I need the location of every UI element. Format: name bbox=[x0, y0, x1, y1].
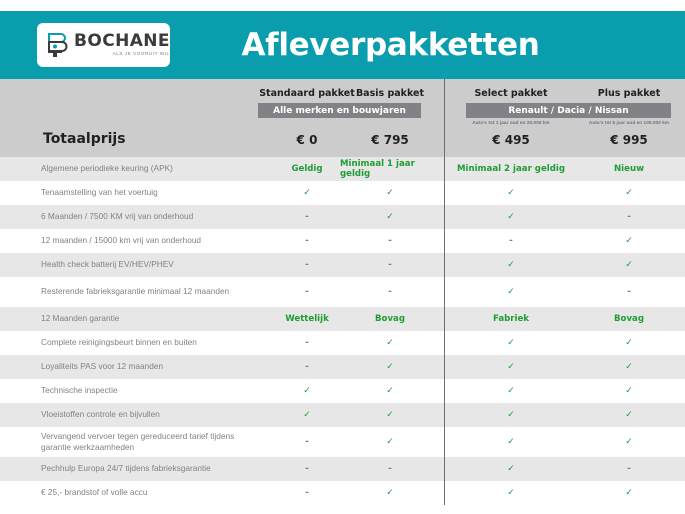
feature-label: Vloeistoffen controle en bijvullen bbox=[41, 403, 251, 427]
cell-basis: ✓ bbox=[340, 331, 440, 355]
cell-basis: Minimaal 1 jaar geldig bbox=[340, 157, 440, 181]
feature-label: € 25,- brandstof of volle accu bbox=[41, 481, 251, 505]
cell-select: ✓ bbox=[446, 403, 576, 427]
table-row: Vloeistoffen controle en bijvullen✓✓✓✓ bbox=[0, 403, 685, 427]
cell-select: ✓ bbox=[446, 457, 576, 481]
cell-plus: ✓ bbox=[564, 181, 685, 205]
cell-select: ✓ bbox=[446, 277, 576, 307]
feature-label: Pechhulp Europa 24/7 tijdens fabrieksgar… bbox=[41, 457, 251, 481]
cell-plus: - bbox=[564, 277, 685, 307]
package-columns: Standaard pakket€ 0Basis pakket€ 795Sele… bbox=[0, 79, 685, 157]
cell-plus: ✓ bbox=[564, 253, 685, 277]
table-row: Technische inspectie✓✓✓✓ bbox=[0, 379, 685, 403]
cell-select: Fabriek bbox=[446, 307, 576, 331]
cell-basis: - bbox=[340, 229, 440, 253]
column-subnote-plus: Auto's tot 5 jaar oud en 100.000 km bbox=[564, 120, 685, 125]
cell-basis: ✓ bbox=[340, 205, 440, 229]
feature-label: Loyaliteits PAS voor 12 maanden bbox=[41, 355, 251, 379]
group-divider-header bbox=[444, 79, 445, 157]
column-subnote-select: Auto's tot 1 jaar oud en 20.000 km bbox=[446, 120, 576, 125]
column-title-basis: Basis pakket bbox=[340, 88, 440, 99]
group-pill-left: Alle merken en bouwjaren bbox=[258, 103, 421, 118]
feature-label: 6 Maanden / 7500 KM vrij van onderhoud bbox=[41, 205, 251, 229]
cell-basis: ✓ bbox=[340, 379, 440, 403]
cell-plus: - bbox=[564, 205, 685, 229]
table-row: Resterende fabrieksgarantie minimaal 12 … bbox=[0, 277, 685, 307]
pricing-header: Totaalprijs Standaard pakket€ 0Basis pak… bbox=[0, 79, 685, 157]
cell-basis: Bovag bbox=[340, 307, 440, 331]
afleverpakketten-page: BOCHANE ALS JE VOORUIT WIL Afleverpakket… bbox=[0, 0, 685, 514]
cell-select: ✓ bbox=[446, 379, 576, 403]
column-title-select: Select pakket bbox=[446, 88, 576, 99]
top-margin bbox=[0, 0, 685, 11]
cell-plus: Bovag bbox=[564, 307, 685, 331]
table-row: Algemene periodieke keuring (APK)GeldigM… bbox=[0, 157, 685, 181]
feature-label: Health check batterij EV/HEV/PHEV bbox=[41, 253, 251, 277]
feature-label: Tenaamstelling van het voertuig bbox=[41, 181, 251, 205]
cell-plus: ✓ bbox=[564, 331, 685, 355]
cell-select: ✓ bbox=[446, 205, 576, 229]
cell-plus: ✓ bbox=[564, 403, 685, 427]
group-pill-right: Renault / Dacia / Nissan bbox=[466, 103, 671, 118]
table-row: € 25,- brandstof of volle accu-✓✓✓ bbox=[0, 481, 685, 505]
feature-comparison-table: Algemene periodieke keuring (APK)GeldigM… bbox=[0, 157, 685, 505]
cell-plus: ✓ bbox=[564, 355, 685, 379]
page-title: Afleverpakketten bbox=[0, 27, 685, 63]
page-banner: BOCHANE ALS JE VOORUIT WIL Afleverpakket… bbox=[0, 11, 685, 79]
cell-basis: ✓ bbox=[340, 403, 440, 427]
cell-plus: ✓ bbox=[564, 481, 685, 505]
feature-label: Technische inspectie bbox=[41, 379, 251, 403]
column-price-basis: € 795 bbox=[340, 133, 440, 147]
cell-select: Minimaal 2 jaar geldig bbox=[446, 157, 576, 181]
table-row: Pechhulp Europa 24/7 tijdens fabrieksgar… bbox=[0, 457, 685, 481]
cell-basis: ✓ bbox=[340, 427, 440, 457]
cell-select: ✓ bbox=[446, 355, 576, 379]
cell-select: ✓ bbox=[446, 331, 576, 355]
table-row: 12 Maanden garantieWettelijkBovagFabriek… bbox=[0, 307, 685, 331]
cell-basis: - bbox=[340, 457, 440, 481]
cell-select: ✓ bbox=[446, 181, 576, 205]
feature-label: Vervangend vervoer tegen gereduceerd tar… bbox=[41, 427, 251, 457]
group-divider-body bbox=[444, 157, 445, 505]
table-row: Tenaamstelling van het voertuig✓✓✓✓ bbox=[0, 181, 685, 205]
table-row: Complete reinigingsbeurt binnen en buite… bbox=[0, 331, 685, 355]
table-row: Health check batterij EV/HEV/PHEV--✓✓ bbox=[0, 253, 685, 277]
table-row: Vervangend vervoer tegen gereduceerd tar… bbox=[0, 427, 685, 457]
cell-plus: Nieuw bbox=[564, 157, 685, 181]
cell-plus: - bbox=[564, 457, 685, 481]
cell-plus: ✓ bbox=[564, 427, 685, 457]
table-row: Loyaliteits PAS voor 12 maanden-✓✓✓ bbox=[0, 355, 685, 379]
feature-label: 12 Maanden garantie bbox=[41, 307, 251, 331]
cell-select: ✓ bbox=[446, 481, 576, 505]
cell-basis: ✓ bbox=[340, 181, 440, 205]
feature-label: Complete reinigingsbeurt binnen en buite… bbox=[41, 331, 251, 355]
feature-label: 12 maanden / 15000 km vrij van onderhoud bbox=[41, 229, 251, 253]
column-price-plus: € 995 bbox=[564, 133, 685, 147]
cell-basis: ✓ bbox=[340, 481, 440, 505]
cell-basis: ✓ bbox=[340, 355, 440, 379]
cell-basis: - bbox=[340, 277, 440, 307]
column-price-select: € 495 bbox=[446, 133, 576, 147]
table-row: 6 Maanden / 7500 KM vrij van onderhoud-✓… bbox=[0, 205, 685, 229]
feature-label: Resterende fabrieksgarantie minimaal 12 … bbox=[41, 277, 251, 307]
feature-label: Algemene periodieke keuring (APK) bbox=[41, 157, 251, 181]
cell-plus: ✓ bbox=[564, 229, 685, 253]
column-title-plus: Plus pakket bbox=[564, 88, 685, 99]
cell-select: ✓ bbox=[446, 427, 576, 457]
table-row: 12 maanden / 15000 km vrij van onderhoud… bbox=[0, 229, 685, 253]
cell-select: ✓ bbox=[446, 253, 576, 277]
cell-plus: ✓ bbox=[564, 379, 685, 403]
cell-select: - bbox=[446, 229, 576, 253]
cell-basis: - bbox=[340, 253, 440, 277]
